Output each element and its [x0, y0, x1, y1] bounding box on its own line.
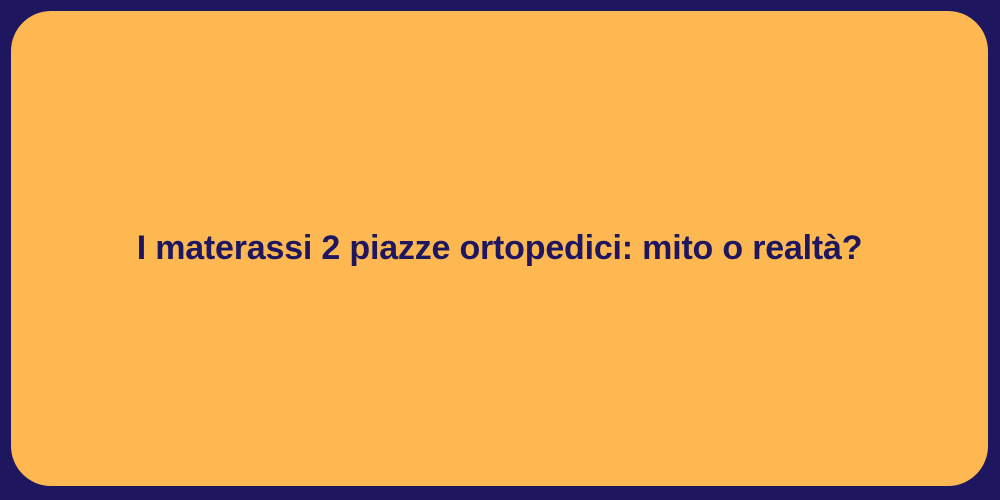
article-card-surface: I materassi 2 piazze ortopedici: mito o …: [11, 11, 988, 486]
article-title: I materassi 2 piazze ortopedici: mito o …: [97, 227, 903, 270]
article-card-frame: I materassi 2 piazze ortopedici: mito o …: [0, 0, 1000, 500]
